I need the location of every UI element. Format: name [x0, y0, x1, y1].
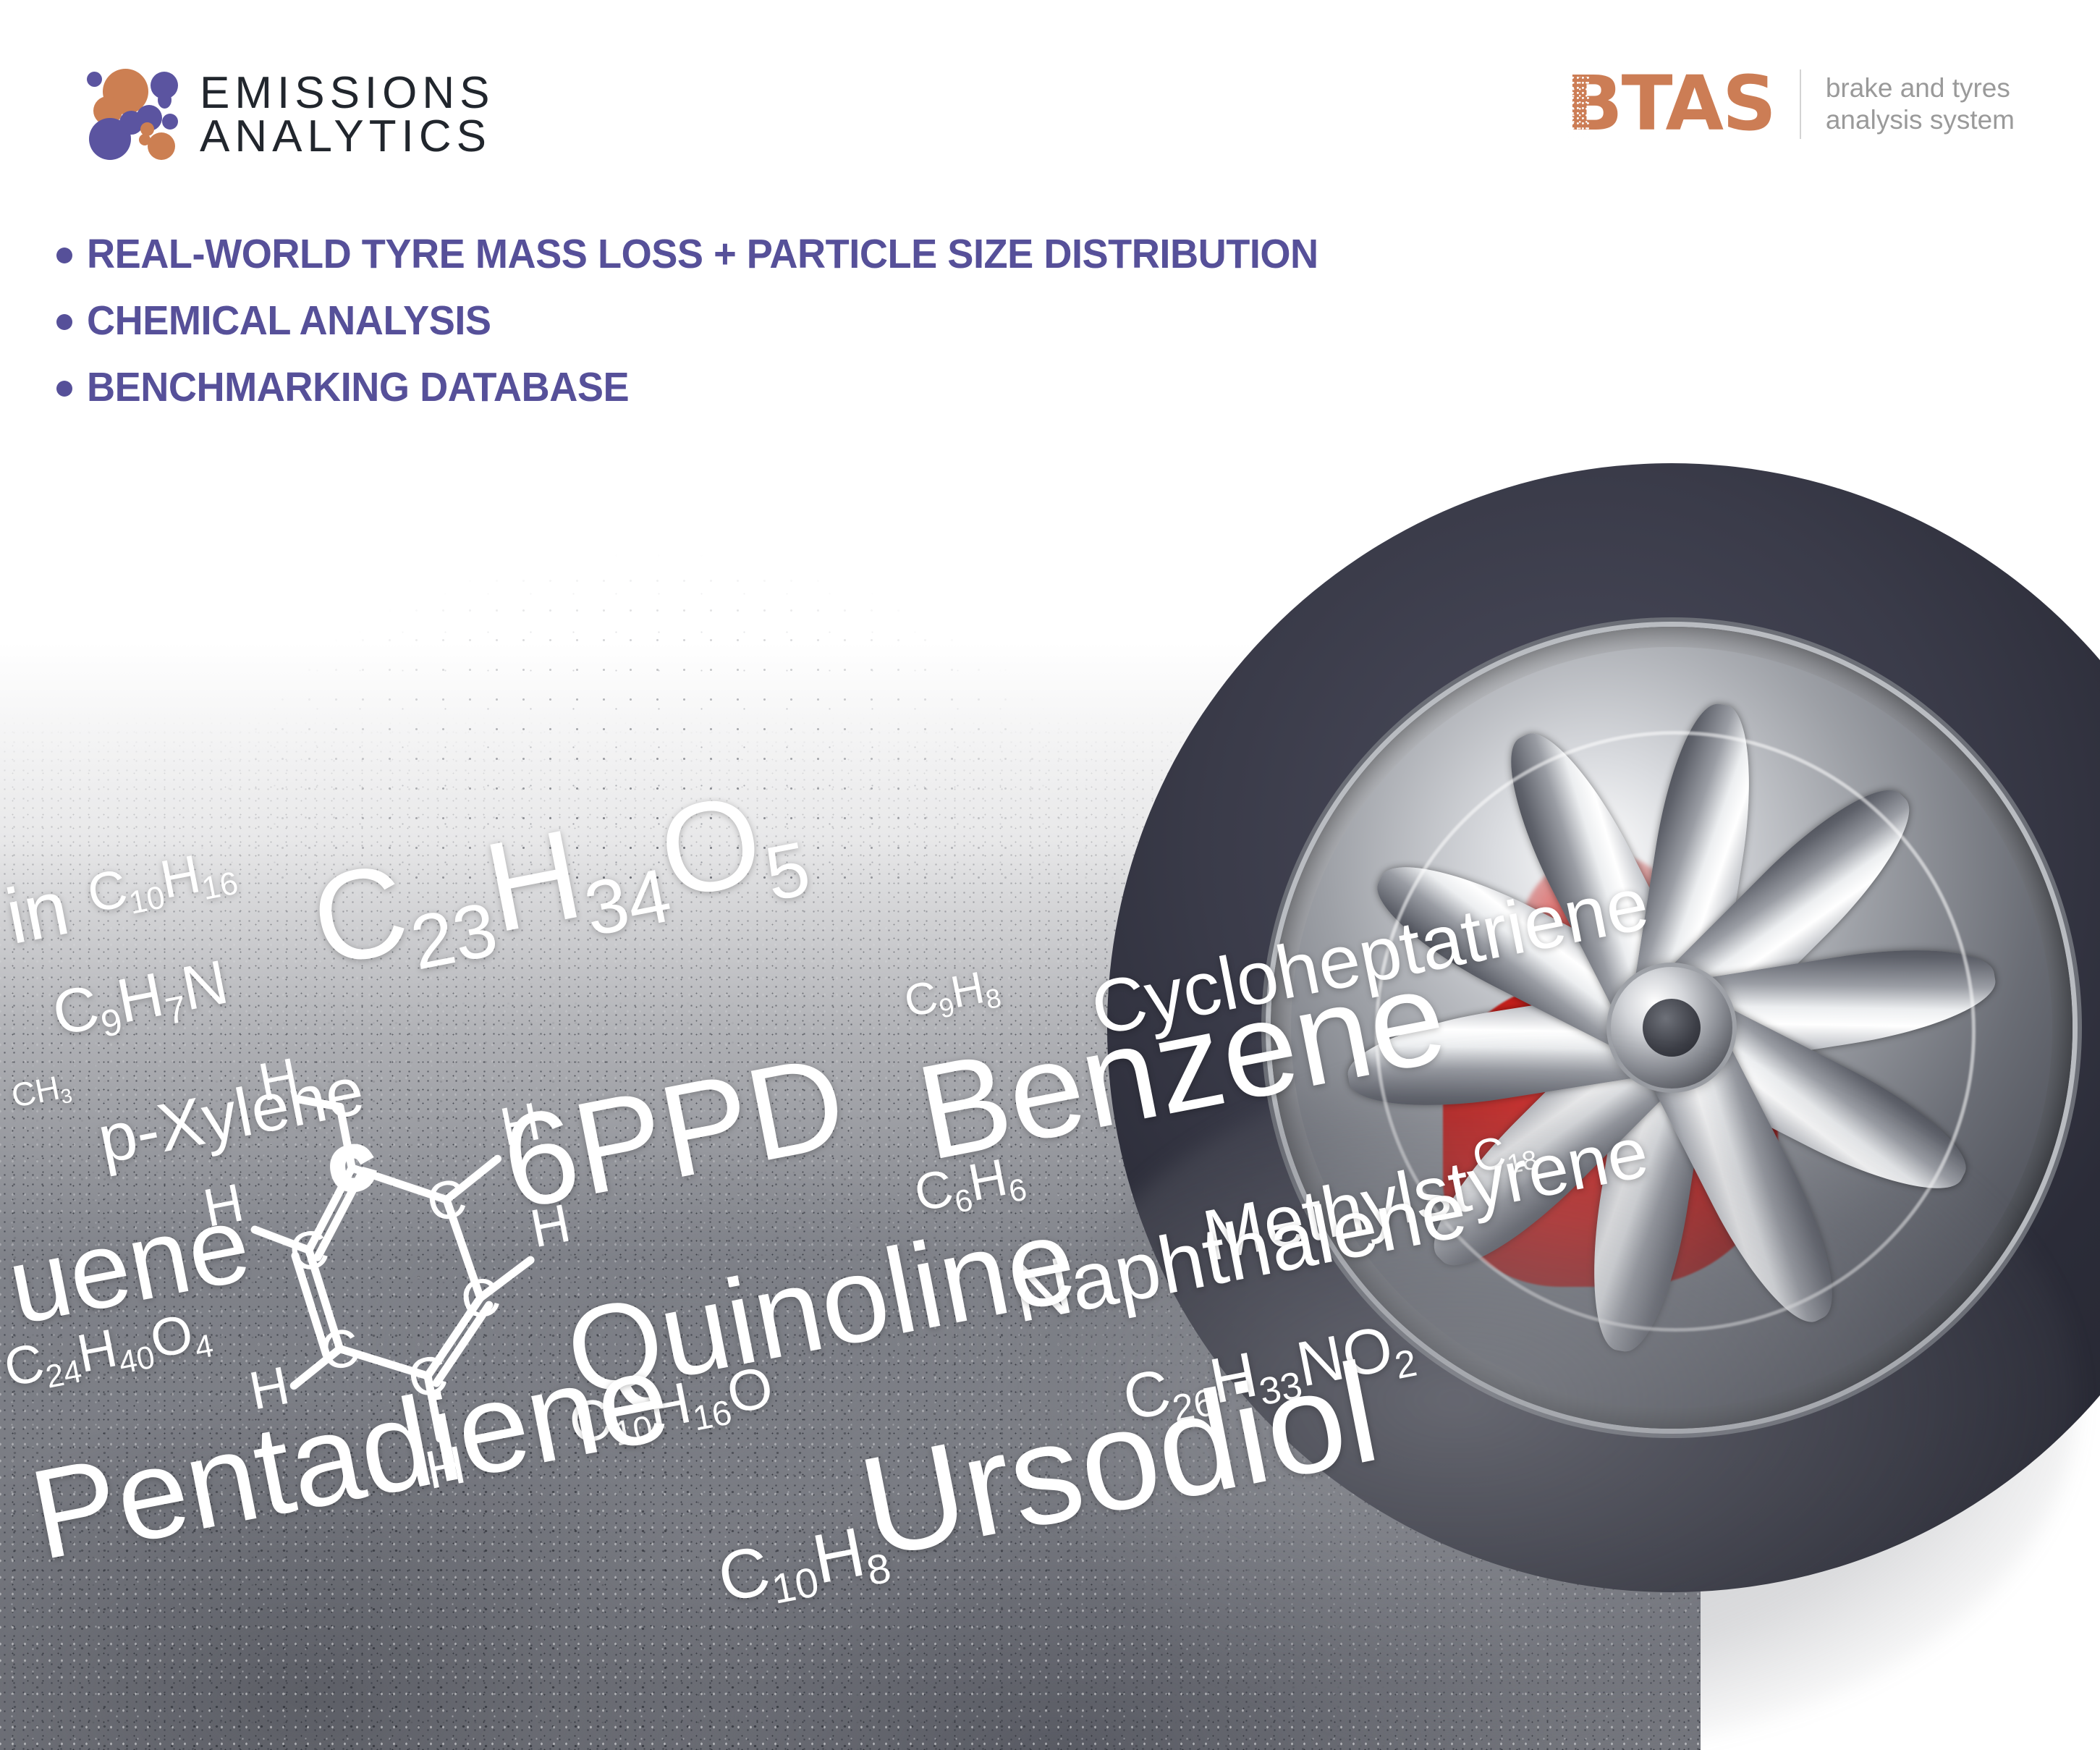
wheel-image: [1107, 463, 2100, 1592]
bullet-label-0: REAL-WORLD TYRE MASS LOSS + PARTICLE SIZ…: [87, 230, 1318, 278]
header: EMISSIONS ANALYTICS BTAS brake and tyres…: [0, 0, 2100, 217]
bullet-dot-icon: [56, 381, 72, 397]
btas-logo[interactable]: BTAS brake and tyres analysis system: [1565, 69, 2015, 139]
bullet-label-2: BENCHMARKING DATABASE: [87, 363, 629, 411]
btas-mark-text: BTAS: [1565, 59, 1775, 148]
bubbles-icon: [87, 69, 181, 161]
logo-line-analytics: ANALYTICS: [200, 115, 495, 158]
feature-bullet-list: REAL-WORLD TYRE MASS LOSS + PARTICLE SIZ…: [56, 230, 1383, 430]
logo-line-emissions: EMISSIONS: [200, 72, 495, 115]
bullet-dot-icon: [56, 248, 72, 263]
btas-tagline-line2: analysis system: [1826, 104, 2015, 136]
bullet-row: BENCHMARKING DATABASE: [56, 363, 1383, 411]
wheel-dust-cloud: [1039, 1050, 2078, 1750]
bullet-row: REAL-WORLD TYRE MASS LOSS + PARTICLE SIZ…: [56, 230, 1383, 278]
btas-divider: [1800, 69, 1801, 139]
poster-canvas: C CC CCC HH HH HH inC10H16C23H34O5C9H7NC…: [0, 0, 2100, 1750]
bullet-label-1: CHEMICAL ANALYSIS: [87, 297, 491, 344]
btas-tagline-line1: brake and tyres: [1826, 72, 2015, 104]
btas-wordmark: BTAS: [1565, 69, 1775, 139]
bullet-row: CHEMICAL ANALYSIS: [56, 297, 1383, 344]
emissions-analytics-logo[interactable]: EMISSIONS ANALYTICS: [87, 69, 495, 161]
particle-spray: [109, 447, 1194, 896]
bullet-dot-icon: [56, 314, 72, 330]
